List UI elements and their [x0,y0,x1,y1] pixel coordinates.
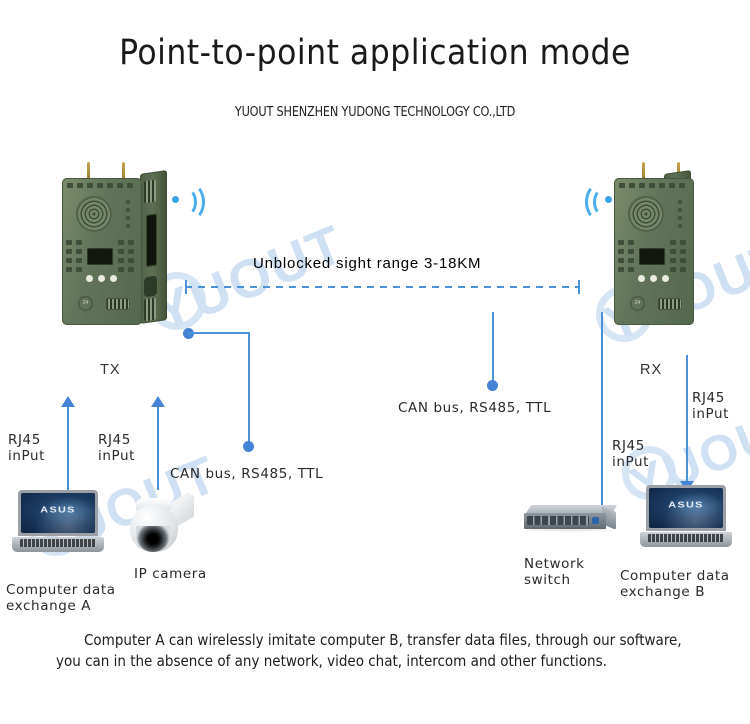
rx-device-body: 24 [614,178,694,325]
right-bus-dot-end [487,380,498,391]
sight-range-dashed-line [185,286,580,288]
left-rj45-a-label: RJ45 inPut [8,432,45,464]
right-rj45-switch-label: RJ45 inPut [612,438,649,470]
switch-rj45-ports [527,516,589,525]
laptop-b-lid: ASUS [646,485,726,531]
laptop-b-label: Computer data exchange B [620,568,730,600]
left-bus-dot-end [243,441,254,452]
laptop-a-lid: ASUS [18,490,98,536]
rx-fan-grille [628,196,664,232]
tx-label: TX [100,362,121,378]
left-bus-label: CAN bus, RS485, TTL [170,466,323,482]
right-rj45-laptop-label: RJ45 inPut [692,390,729,422]
rx-radio-device: 24 [602,162,707,325]
laptop-computer-a: ASUS [12,490,104,552]
rx-button-3[interactable] [662,275,669,282]
rx-button-1[interactable] [638,275,645,282]
network-switch-label: Network switch [524,556,585,588]
company-subtitle: YUOUT SHENZHEN YUDONG TECHNOLOGY CO.,LTD [26,104,724,120]
right-bus-label: CAN bus, RS485, TTL [398,400,551,416]
laptop-a-label: Computer data exchange A [6,582,116,614]
ip-camera-label: IP camera [134,566,207,582]
sight-range-label: Unblocked sight range 3-18KM [253,255,481,272]
diagram-canvas: Point-to-point application mode YUOUT SH… [0,0,750,724]
ip-camera [128,486,198,558]
switch-uplink-port [592,517,599,524]
network-switch [524,505,616,539]
page-title: Point-to-point application mode [0,33,750,73]
laptop-computer-b: ASUS [640,485,732,547]
rx-display [639,248,665,265]
left-rj45-b-label: RJ45 inPut [98,432,135,464]
tx-device-side-panel [140,170,167,324]
rx-connector-block [658,298,682,310]
tx-device-body: 24 [62,178,142,325]
tx-wifi-signal-icon [172,182,204,216]
tx-display [87,248,113,265]
footer-note: Computer A can wirelessly imitate comput… [56,630,701,672]
laptop-a-brand: ASUS [40,505,75,514]
left-rj45-a-arrowhead [61,396,75,407]
tx-button-1[interactable] [86,275,93,282]
rx-wifi-signal-icon [580,182,612,216]
rx-badge: 24 [630,296,645,311]
left-rj45-b-arrowhead [151,396,165,407]
rx-label: RX [640,362,662,378]
laptop-b-brand: ASUS [668,500,703,509]
rx-button-2[interactable] [650,275,657,282]
tx-fan-grille [76,196,112,232]
tx-connector-block [106,298,130,310]
tx-button-3[interactable] [110,275,117,282]
tx-badge: 24 [78,296,93,311]
tx-button-2[interactable] [98,275,105,282]
tx-radio-device: 24 [62,162,167,325]
